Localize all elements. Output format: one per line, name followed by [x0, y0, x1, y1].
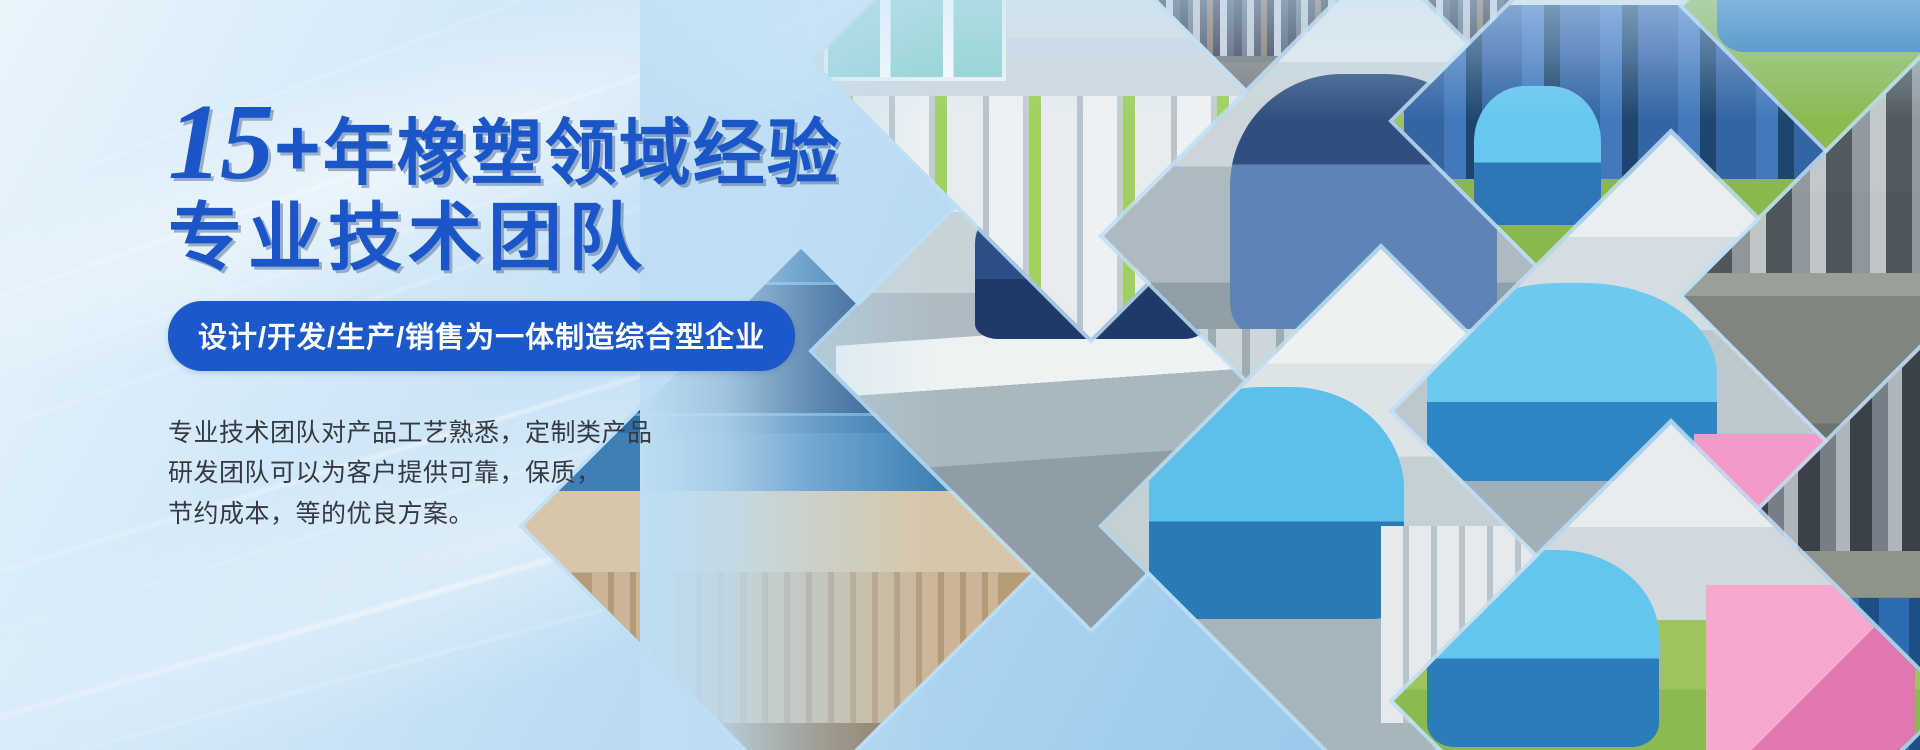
headline-line-1-text: 年橡塑领域经验: [323, 118, 841, 190]
headline: 15 + 年橡塑领域经验 专业技术团队: [168, 92, 928, 275]
headline-line-1: 15 + 年橡塑领域经验: [168, 92, 928, 194]
plus-symbol: +: [274, 108, 321, 188]
years-number: 15: [168, 92, 272, 194]
tagline-badge: 设计/开发/生产/销售为一体制造综合型企业: [168, 301, 795, 371]
description-line: 研发团队可以为客户提供可靠，保质，: [168, 453, 928, 494]
description-line: 专业技术团队对产品工艺熟悉，定制类产品: [168, 413, 928, 454]
banner-content: 15 + 年橡塑领域经验 专业技术团队 设计/开发/生产/销售为一体制造综合型企…: [168, 92, 928, 534]
description-line: 节约成本，等的优良方案。: [168, 494, 928, 535]
headline-line-2: 专业技术团队: [168, 200, 928, 275]
promotional-banner: 15 + 年橡塑领域经验 专业技术团队 设计/开发/生产/销售为一体制造综合型企…: [0, 0, 1920, 750]
description-paragraph: 专业技术团队对产品工艺熟悉，定制类产品 研发团队可以为客户提供可靠，保质， 节约…: [168, 413, 928, 535]
